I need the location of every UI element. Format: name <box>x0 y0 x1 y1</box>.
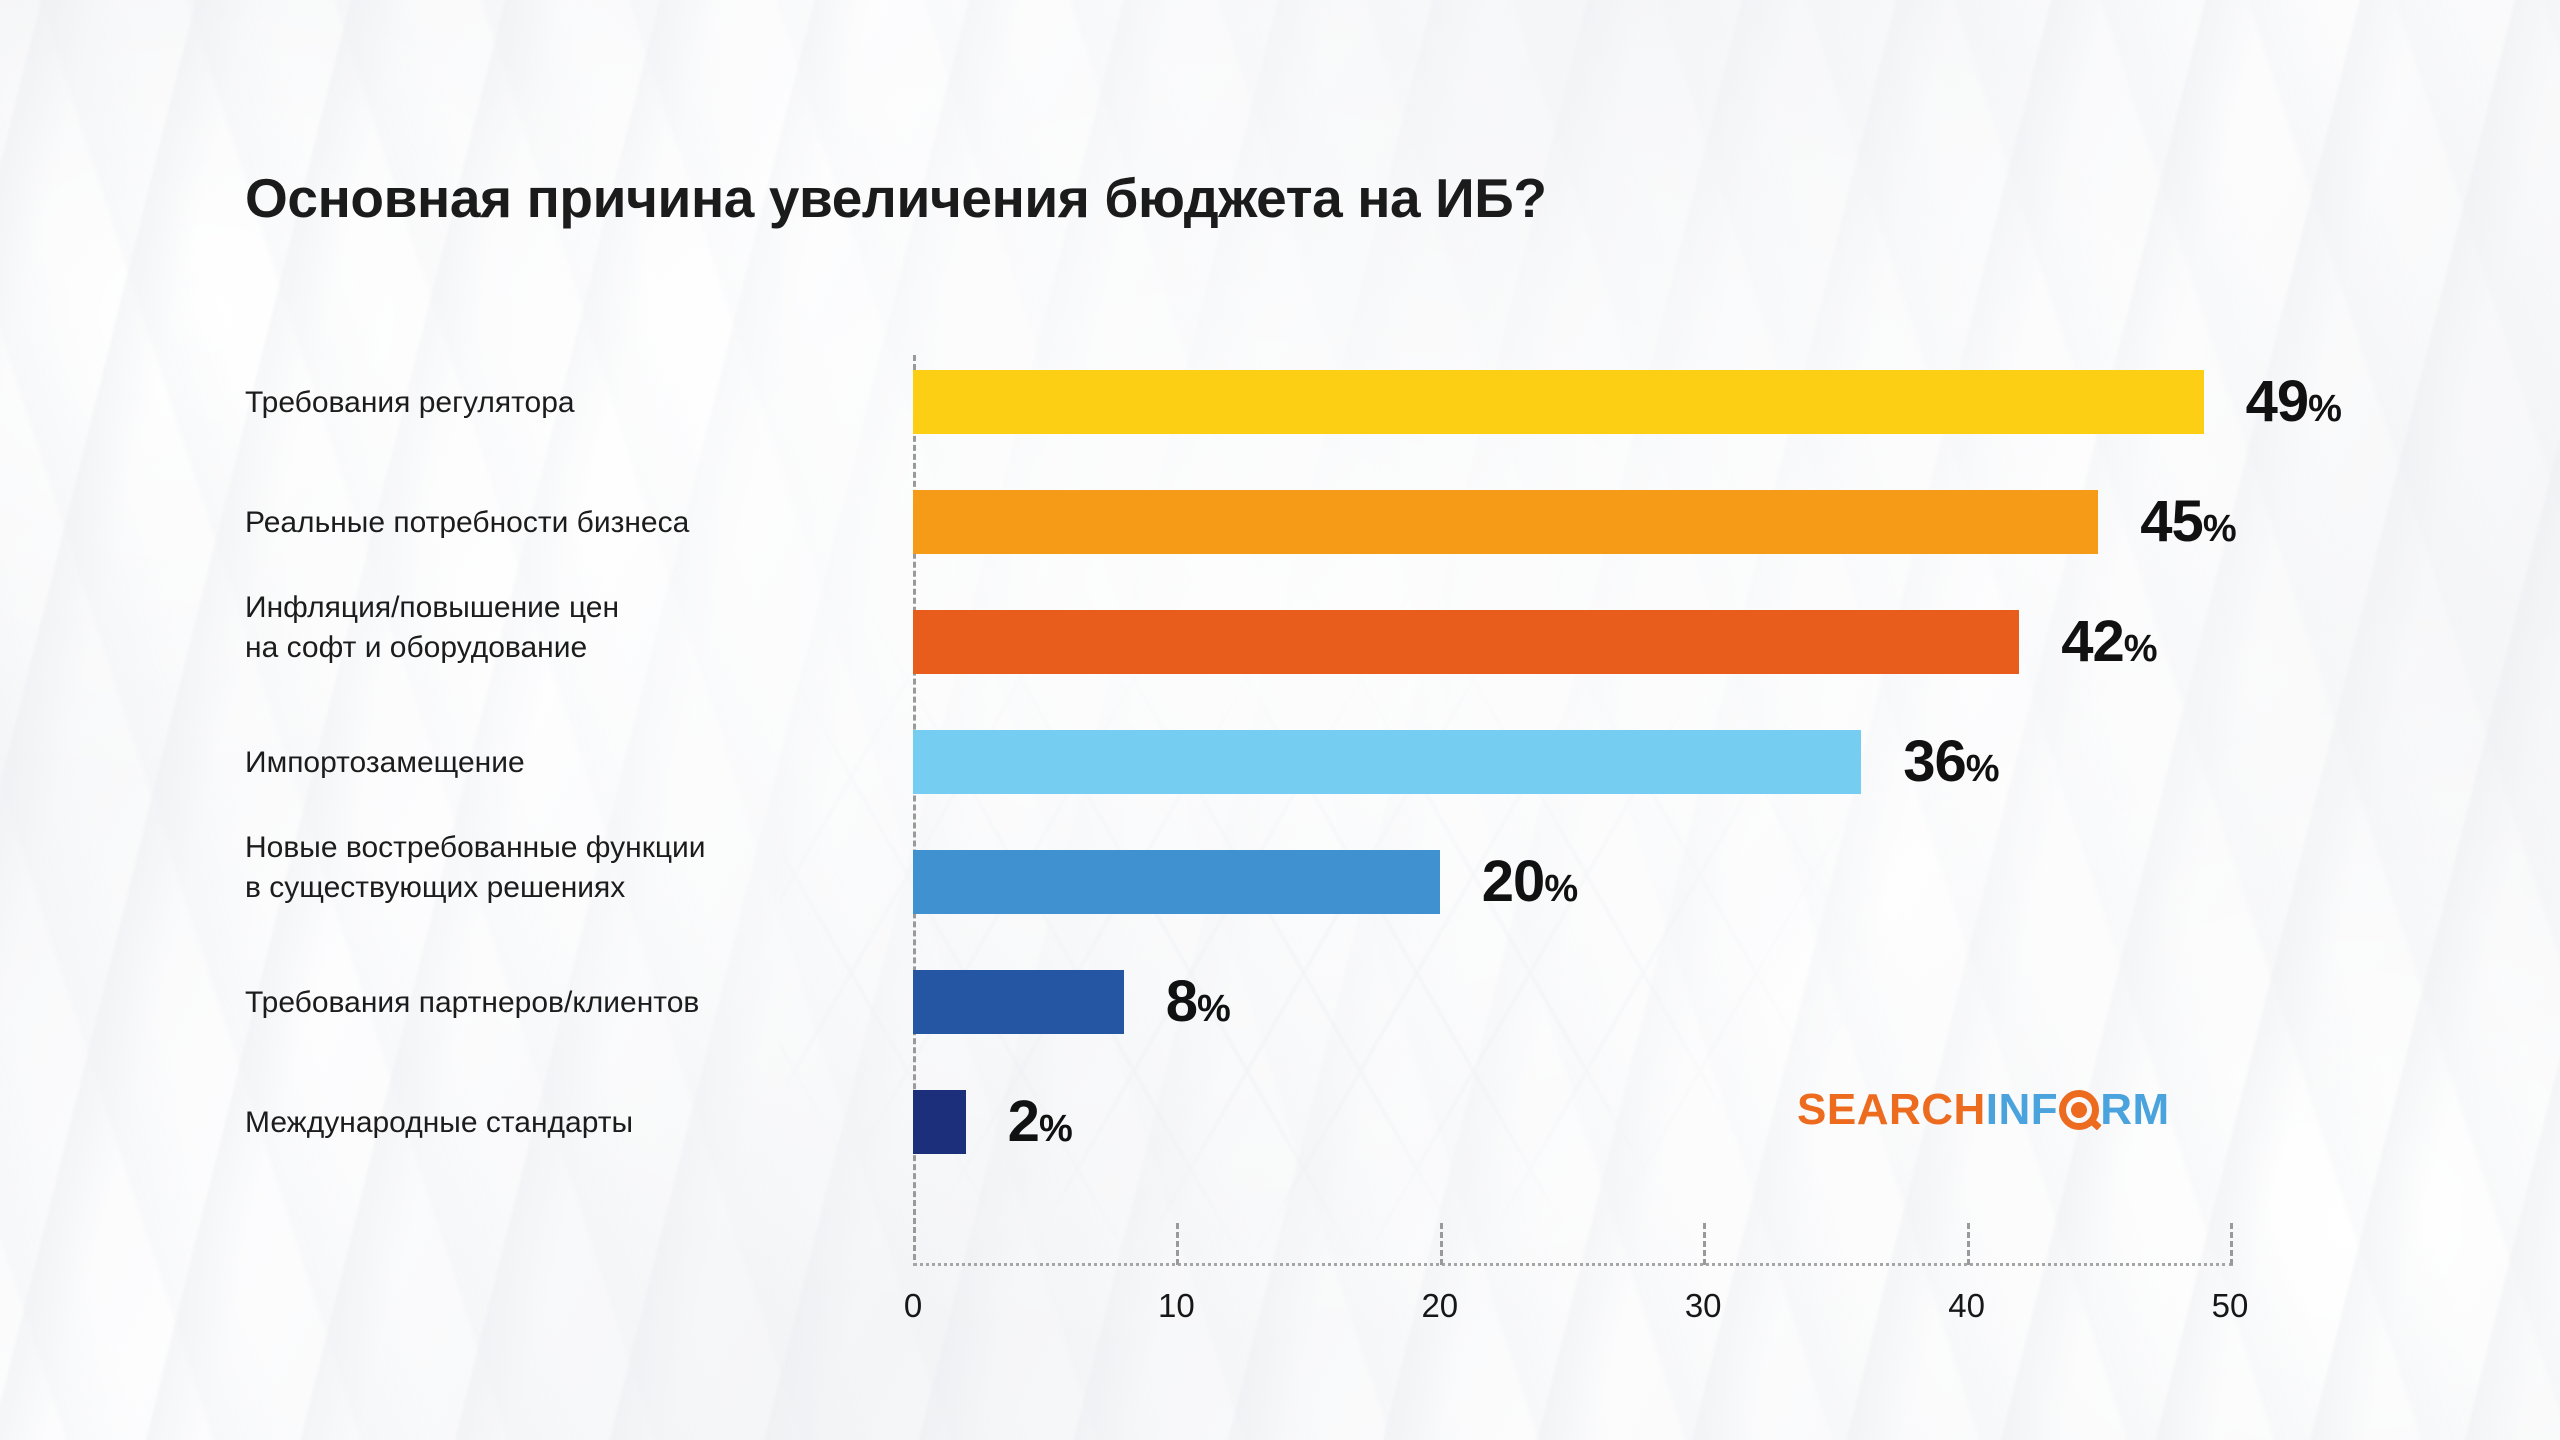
value-label-1: 49% <box>2246 373 2342 431</box>
searchinform-logo: SEARCHINFRM <box>1797 1088 2170 1132</box>
gridline-50 <box>2230 1223 2233 1265</box>
x-tick-label-10: 10 <box>1131 1287 1221 1325</box>
percent-sign: % <box>1197 988 1230 1030</box>
category-label-line1: Инфляция/повышение цен <box>245 588 885 628</box>
value-number: 36 <box>1903 729 1966 794</box>
category-label-line1: Импортозамещение <box>245 743 885 783</box>
gridline-10 <box>1176 1223 1179 1265</box>
percent-sign: % <box>1039 1108 1072 1150</box>
bar-6 <box>913 970 1124 1034</box>
category-label-line2: на софт и оборудование <box>245 628 885 668</box>
percent-sign: % <box>2308 388 2341 430</box>
gridline-40 <box>1967 1223 1970 1265</box>
logo-text-inf: INF <box>1986 1088 2058 1132</box>
category-label-4: Импортозамещение <box>245 743 885 783</box>
category-label-7: Международные стандарты <box>245 1103 885 1143</box>
category-label-3: Инфляция/повышение ценна софт и оборудов… <box>245 588 885 668</box>
percent-sign: % <box>1966 748 1999 790</box>
value-number: 49 <box>2246 369 2309 434</box>
category-label-line1: Требования партнеров/клиентов <box>245 983 885 1023</box>
gridline-20 <box>1440 1223 1443 1265</box>
category-label-line1: Международные стандарты <box>245 1103 885 1143</box>
logo-target-o-icon <box>2059 1090 2099 1130</box>
x-axis-baseline <box>913 1263 2233 1266</box>
value-number: 45 <box>2140 489 2203 554</box>
gridline-30 <box>1703 1223 1706 1265</box>
value-number: 42 <box>2061 609 2124 674</box>
bar-4 <box>913 730 1861 794</box>
value-number: 2 <box>1008 1089 1039 1154</box>
value-label-6: 8% <box>1166 973 1231 1031</box>
logo-text-search: SEARCH <box>1797 1088 1986 1132</box>
logo-text-rm: RM <box>2100 1088 2169 1132</box>
percent-sign: % <box>2124 628 2157 670</box>
value-label-4: 36% <box>1903 733 1999 791</box>
value-label-7: 2% <box>1008 1093 1073 1151</box>
bar-5 <box>913 850 1440 914</box>
x-tick-label-40: 40 <box>1922 1287 2012 1325</box>
bar-3 <box>913 610 2019 674</box>
category-label-line1: Требования регулятора <box>245 383 885 423</box>
bar-7 <box>913 1090 966 1154</box>
category-label-5: Новые востребованные функциив существующ… <box>245 828 885 908</box>
value-number: 8 <box>1166 969 1197 1034</box>
chart-title: Основная причина увеличения бюджета на И… <box>245 166 1547 230</box>
value-number: 20 <box>1482 849 1545 914</box>
category-label-line1: Новые востребованные функции <box>245 828 885 868</box>
percent-sign: % <box>2203 508 2236 550</box>
x-tick-label-0: 0 <box>868 1287 958 1325</box>
x-tick-label-30: 30 <box>1658 1287 1748 1325</box>
value-label-3: 42% <box>2061 613 2157 671</box>
category-label-line1: Реальные потребности бизнеса <box>245 503 885 543</box>
value-label-5: 20% <box>1482 853 1578 911</box>
category-label-2: Реальные потребности бизнеса <box>245 503 885 543</box>
percent-sign: % <box>1544 868 1577 910</box>
category-label-1: Требования регулятора <box>245 383 885 423</box>
x-tick-label-20: 20 <box>1395 1287 1485 1325</box>
bar-2 <box>913 490 2098 554</box>
bar-1 <box>913 370 2204 434</box>
category-label-line2: в существующих решениях <box>245 868 885 908</box>
category-label-6: Требования партнеров/клиентов <box>245 983 885 1023</box>
value-label-2: 45% <box>2140 493 2236 551</box>
chart-canvas: Основная причина увеличения бюджета на И… <box>0 0 2560 1440</box>
x-tick-label-50: 50 <box>2185 1287 2275 1325</box>
